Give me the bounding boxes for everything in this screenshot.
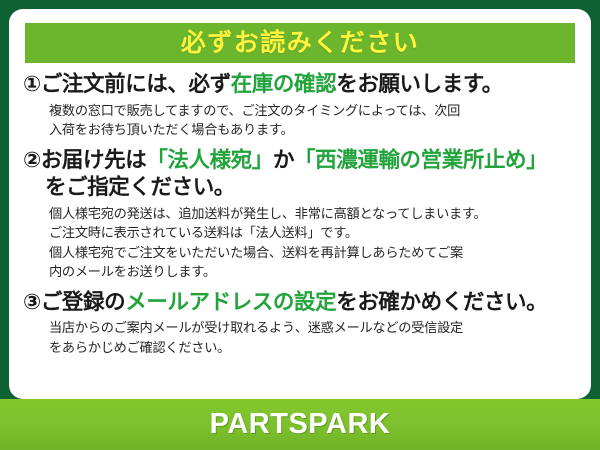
notice-item-2-sub-line-3: 個人様宅宛でご注文をいただいた場合、送料を再計算しあらためてご案 [49,243,579,263]
notice-item-3-number: ③ [23,290,41,314]
notice-item-2-sub-line-1: 個人様宅宛の発送は、追加送料が発生し、非常に高額となってしまいます。 [49,204,579,224]
footer-brand-band: PARTSPARK [0,399,600,450]
notice-item-2-head-highlight-2: 「西濃運輸の営業所止め」 [294,148,547,172]
notice-item-3-head-pre: ご登録の [41,290,125,314]
notice-item-1-head-pre: ご注文前には、必ず [41,72,231,96]
notice-frame: 必ずお読みください ①ご注文前には、必ず在庫の確認をお願いします。 複数の窓口で… [0,0,600,450]
notice-item-2-head-line-2: をご指定ください。 [23,174,579,202]
notice-item-2-headline: ②お届け先は「法人様宛」か「西濃運輸の営業所止め」をご指定ください。 [23,147,579,202]
notice-item-3-sub-line-1: 当店からのご案内メールが受け取れるよう、迷惑メールなどの受信設定 [49,318,579,338]
notice-item-3-head-post: をお確かめください。 [336,290,547,314]
notice-item-2-head-mid: か [273,148,294,172]
notice-item-3: ③ご登録のメールアドレスの設定をお確かめください。 当店からのご案内メールが受け… [23,289,579,358]
notice-item-2-head-pre: お届け先は [41,148,147,172]
notice-item-1-head-highlight: 在庫の確認 [231,72,337,96]
notice-item-2-subtext: 個人様宅宛の発送は、追加送料が発生し、非常に高額となってしまいます。 ご注文時に… [23,204,579,282]
notice-item-3-subtext: 当店からのご案内メールが受け取れるよう、迷惑メールなどの受信設定 をあらかじめご… [23,318,579,357]
notice-card: 必ずお読みください ①ご注文前には、必ず在庫の確認をお願いします。 複数の窓口で… [9,9,591,399]
notice-item-1-head-post: をお願いします。 [336,72,503,96]
notice-item-2-sub-line-4: 内のメールをお送りします。 [49,262,579,282]
notice-item-1-sub-line-1: 複数の窓口で販売してますので、ご注文のタイミングによっては、次回 [49,101,579,121]
notice-items-list: ①ご注文前には、必ず在庫の確認をお願いします。 複数の窓口で販売してますので、ご… [9,71,591,364]
notice-item-3-headline: ③ご登録のメールアドレスの設定をお確かめください。 [23,289,579,317]
notice-item-1: ①ご注文前には、必ず在庫の確認をお願いします。 複数の窓口で販売してますので、ご… [23,71,579,140]
notice-item-1-sub-line-2: 入荷をお待ち頂いただく場合もあります。 [49,120,579,140]
notice-item-2-head-highlight: 「法人様宛」 [146,148,273,172]
notice-item-3-sub-line-2: をあらかじめご確認ください。 [49,338,579,358]
notice-item-1-subtext: 複数の窓口で販売してますので、ご注文のタイミングによっては、次回 入荷をお待ち頂… [23,101,579,140]
page-title: 必ずお読みください [181,31,420,56]
brand-logo-text: PARTSPARK [210,410,391,439]
notice-item-2-number: ② [23,148,41,172]
notice-item-2: ②お届け先は「法人様宛」か「西濃運輸の営業所止め」をご指定ください。 個人様宅宛… [23,147,579,282]
title-banner: 必ずお読みください [25,23,575,63]
notice-item-1-number: ① [23,72,41,96]
notice-item-1-headline: ①ご注文前には、必ず在庫の確認をお願いします。 [23,71,579,99]
notice-item-3-head-highlight: メールアドレスの設定 [125,290,336,314]
notice-item-2-sub-line-2: ご注文時に表示されている送料は「法人送料」です。 [49,223,579,243]
